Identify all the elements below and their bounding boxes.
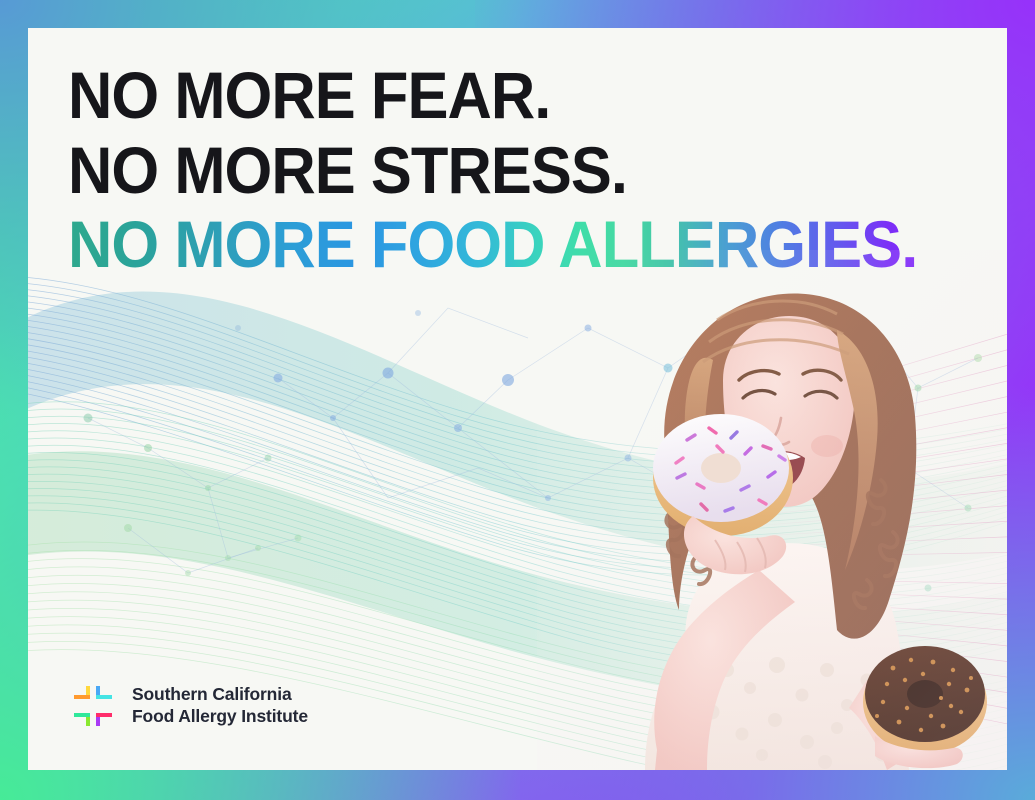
hero-photo-girl-eating-donut [537,250,1007,770]
logo-line-2: Food Allergy Institute [132,706,308,728]
logo-line-1: Southern California [132,684,308,706]
logo-text: Southern California Food Allergy Institu… [132,684,308,728]
poster: NO MORE FEAR. NO MORE STRESS. NO MORE FO… [0,0,1035,800]
poster-card: NO MORE FEAR. NO MORE STRESS. NO MORE FO… [28,28,1007,770]
girl-eating-donut-illustration [537,250,1007,770]
logo: Southern California Food Allergy Institu… [70,684,308,728]
scfai-logo-mark-icon [70,684,116,728]
headline-line-1: NO MORE FEAR. [68,64,924,127]
headline-line-2: NO MORE STRESS. [68,139,924,202]
